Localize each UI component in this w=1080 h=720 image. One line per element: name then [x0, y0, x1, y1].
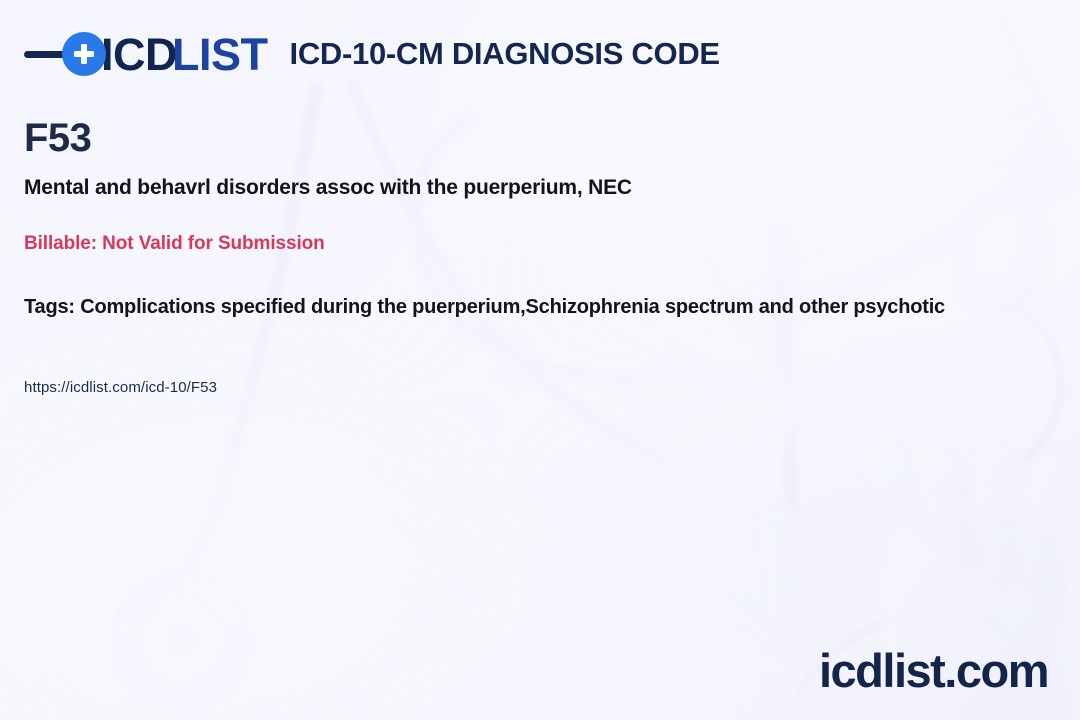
diagnosis-code: F53 [24, 118, 1080, 158]
source-url[interactable]: https://icdlist.com/icd-10/F53 [24, 379, 1080, 396]
header: ICD LIST ICD-10-CM DIAGNOSIS CODE [24, 26, 1080, 82]
diagnosis-description: Mental and behavrl disorders assoc with … [24, 176, 1080, 200]
plus-circle-icon [62, 32, 106, 76]
logo-word-list: LIST [172, 32, 268, 77]
logo-word-icd: ICD [101, 32, 177, 77]
card-content: ICD LIST ICD-10-CM DIAGNOSIS CODE F53 Me… [0, 0, 1080, 720]
page-title: ICD-10-CM DIAGNOSIS CODE [290, 36, 720, 72]
footer-brand: icdlist.com [819, 647, 1048, 694]
tags-list: Tags: Complications specified during the… [24, 296, 1080, 319]
brand-logo[interactable]: ICD LIST [24, 32, 268, 77]
plus-horizontal-bar [74, 51, 94, 57]
billable-status: Billable: Not Valid for Submission [24, 233, 1080, 255]
